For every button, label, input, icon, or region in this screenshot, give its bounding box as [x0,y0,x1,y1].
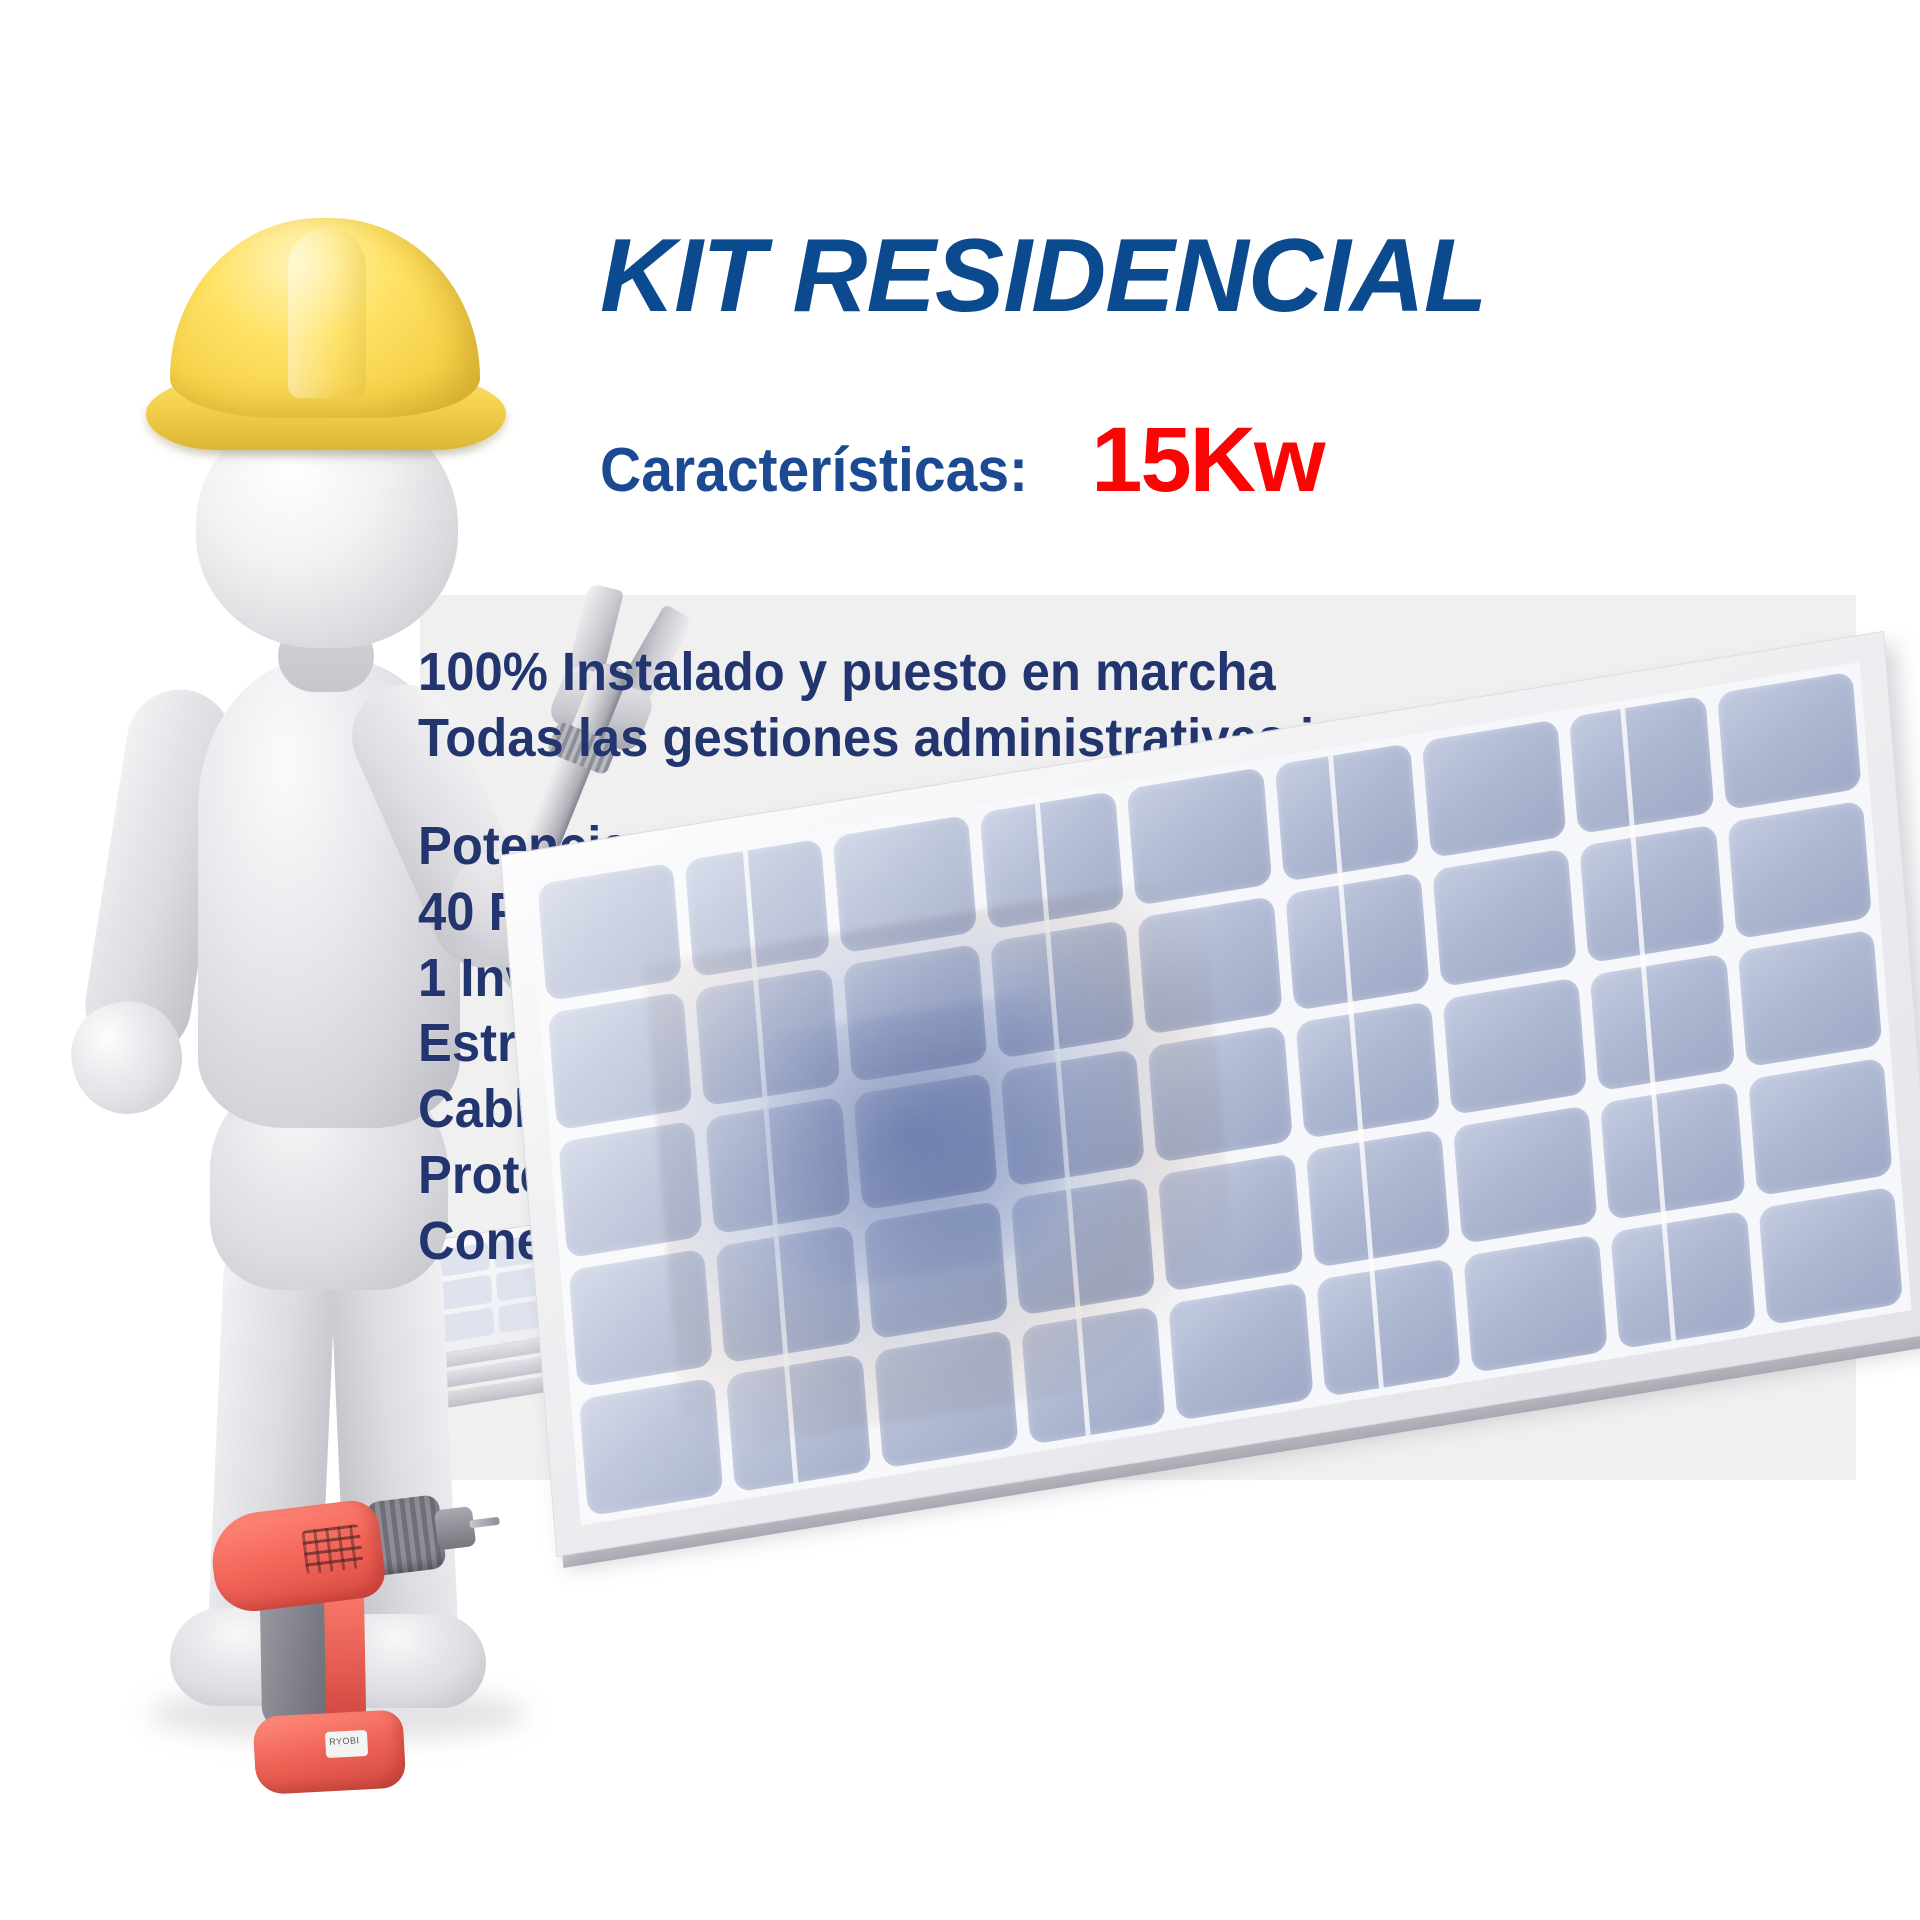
characteristics-label: Características: [600,435,1028,506]
hard-hat-ridge [288,228,366,398]
drill-bit [469,1517,500,1529]
poster-canvas: RYOBI [0,0,1920,1920]
subtitle-row: Características: 15Kw [600,408,1324,496]
cordless-drill-icon: RYOBI [188,1472,542,1809]
drill-vents [301,1524,364,1575]
page-title: KIT RESIDENCIAL [600,222,1920,331]
drill-chuck [434,1506,477,1550]
solar-panel-illustration [500,855,1920,1615]
power-badge: 15Kw [1091,408,1323,513]
drill-brand-text: RYOBI [329,1735,365,1747]
